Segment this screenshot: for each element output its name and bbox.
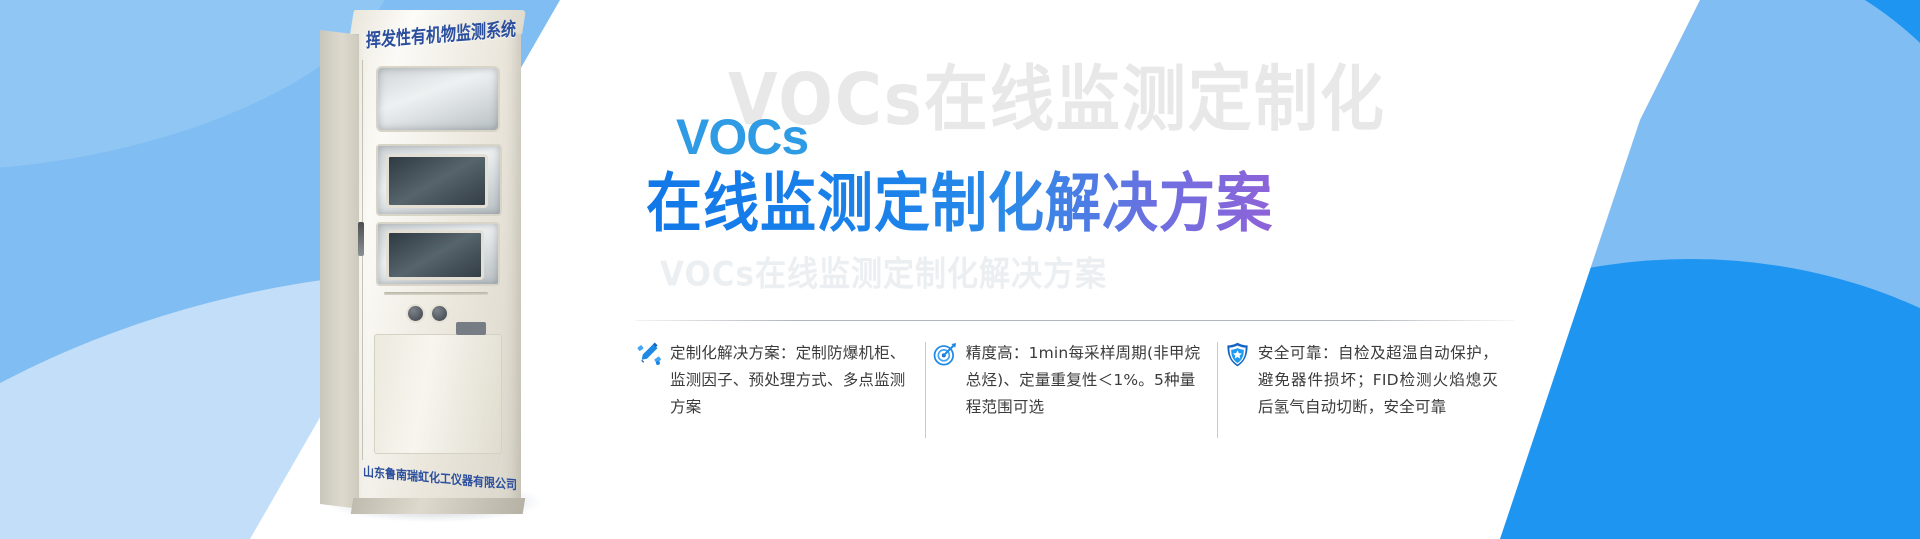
- feature-item-safety: 安全可靠：自检及超温自动保护，避免器件损坏；FID检测火焰熄灭后氢气自动切断，安…: [1224, 340, 1516, 450]
- feature-item-customization: 定制化解决方案：定制防爆机柜、监测因子、预处理方式、多点监测方案: [636, 340, 932, 450]
- cabinet-nameplate: [456, 322, 486, 335]
- cabinet-knob-1: [406, 304, 425, 323]
- cabinet-handle: [358, 222, 364, 256]
- watermark-bottom: VOCs在线监测定制化解决方案: [660, 246, 1107, 296]
- feature-list: 定制化解决方案：定制防爆机柜、监测因子、预处理方式、多点监测方案 精度高：1mi…: [636, 340, 1516, 450]
- cabinet-base: [351, 498, 526, 514]
- cabinet-lower-panel: [374, 334, 502, 454]
- cabinet-door-seam: [362, 60, 363, 460]
- cabinet-window-upper: [376, 66, 500, 132]
- product-image: 挥发性有机物监测系统 山东鲁南瑞虹化工仪器有限公司: [318, 4, 540, 520]
- target-arrow-icon: [932, 341, 959, 368]
- watermark-top: VOCs在线监测定制化: [728, 42, 1386, 145]
- page-title: 在线监测定制化解决方案: [646, 152, 1273, 245]
- cabinet-vent-1: [384, 292, 488, 295]
- feature-text: 安全可靠：自检及超温自动保护，避免器件损坏；FID检测火焰熄灭后氢气自动切断，安…: [1258, 340, 1498, 421]
- shield-star-icon: [1224, 341, 1251, 368]
- cabinet-display-upper: [386, 154, 488, 208]
- promo-banner: 挥发性有机物监测系统 山东鲁南瑞虹化工仪器有限公司 VOCs在线监测定制化 VO…: [0, 0, 1920, 539]
- feature-text: 精度高：1min每采样周期(非甲烷总烃)、定量重复性＜1%。5种量程范围可选: [966, 340, 1206, 421]
- cabinet-side-panel: [320, 30, 360, 509]
- feature-item-precision: 精度高：1min每采样周期(非甲烷总烃)、定量重复性＜1%。5种量程范围可选: [932, 340, 1224, 450]
- cabinet-display-lower: [386, 230, 484, 280]
- feature-text: 定制化解决方案：定制防爆机柜、监测因子、预处理方式、多点监测方案: [670, 340, 914, 421]
- pencil-tools-icon: [636, 341, 663, 368]
- cabinet-knob-2: [430, 304, 449, 323]
- section-divider: [636, 320, 1514, 321]
